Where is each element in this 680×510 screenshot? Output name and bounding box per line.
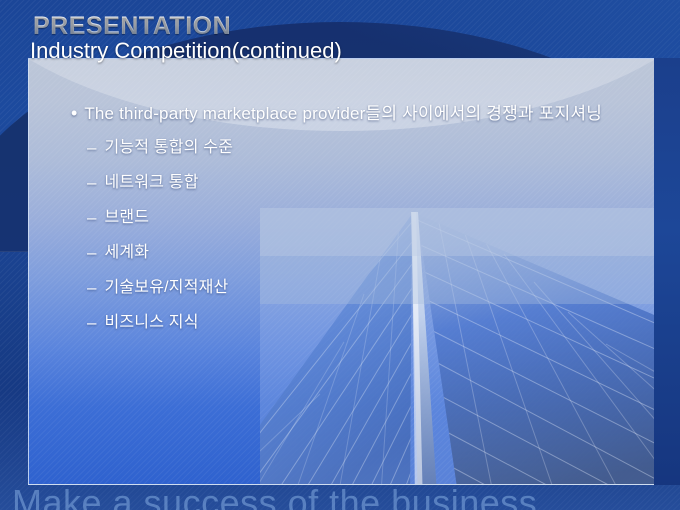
slide-title-block: PRESENTATION Industry Competition(contin… (30, 14, 342, 62)
bullet-marker-dash: – (87, 172, 96, 193)
bullet-text: 비즈니스 지식 (104, 312, 198, 333)
bullet-marker-dash: – (87, 277, 96, 298)
bullet-text: 브랜드 (104, 207, 149, 228)
bullet-marker-dash: – (87, 207, 96, 228)
bullet-item-sub-6: – 비즈니스 지식 (87, 312, 654, 333)
content-panel: • The third-party marketplace provider들의… (28, 58, 655, 485)
bullet-text: 기술보유/지적재산 (104, 277, 228, 298)
bullet-list: • The third-party marketplace provider들의… (47, 103, 654, 347)
bullet-marker-dot: • (71, 103, 77, 123)
bullet-text: 네트워크 통합 (104, 172, 198, 193)
bullet-item-main: • The third-party marketplace provider들의… (71, 103, 654, 124)
bullet-item-sub-3: – 브랜드 (87, 207, 654, 228)
bullet-item-sub-2: – 네트워크 통합 (87, 172, 654, 193)
bullet-item-sub-5: – 기술보유/지적재산 (87, 277, 654, 298)
bullet-text: 세계화 (104, 242, 149, 263)
content-panel-inner: • The third-party marketplace provider들의… (29, 59, 654, 484)
page-title: Industry Competition(continued) (30, 40, 342, 62)
bullet-marker-dash: – (87, 242, 96, 263)
bullet-item-sub-4: – 세계화 (87, 242, 654, 263)
presentation-slide: Make a success of the business (0, 0, 680, 510)
presentation-kicker: PRESENTATION (33, 14, 342, 39)
bullet-item-sub-1: – 기능적 통합의 수준 (87, 137, 654, 158)
bullet-marker-dash: – (87, 312, 96, 333)
bullet-text: The third-party marketplace provider들의 사… (84, 103, 602, 124)
bullet-text: 기능적 통합의 수준 (104, 137, 233, 158)
bullet-marker-dash: – (87, 137, 96, 158)
slide-tagline: Make a success of the business (12, 482, 537, 510)
